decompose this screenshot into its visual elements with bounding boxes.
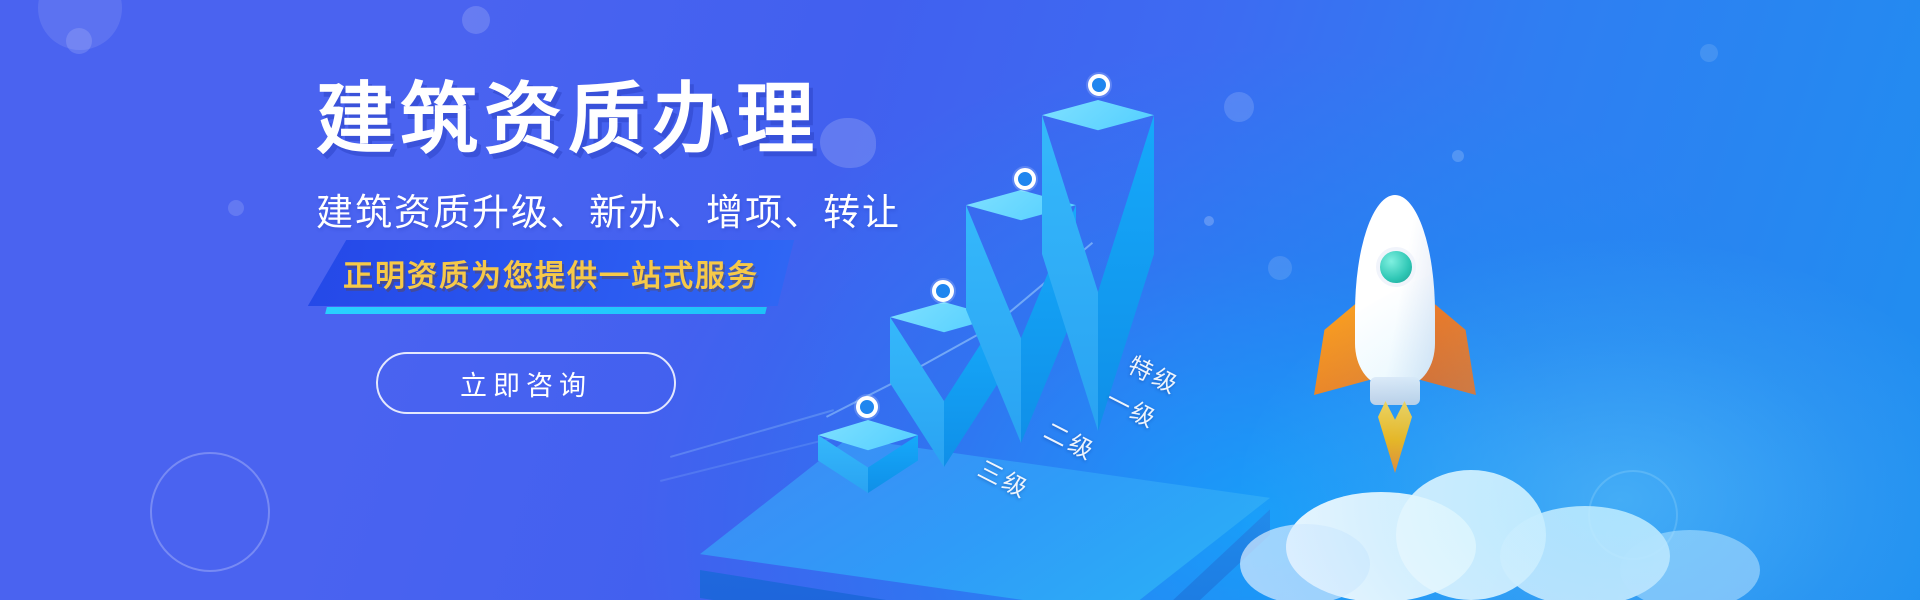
data-node-icon-3 (1014, 168, 1036, 190)
chart-bar-4-top (1042, 100, 1154, 154)
growth-chart: 三级 二级 一级 特级 (640, 40, 1340, 600)
chart-bar-4-left (1042, 115, 1098, 431)
promo-banner: 建筑资质办理 建筑资质升级、新办、增项、转让 正明资质为您提供一站式服务 立即咨… (0, 0, 1920, 600)
trend-line-4 (670, 409, 834, 458)
data-node-icon-2 (932, 280, 954, 302)
decor-blob-4 (462, 6, 490, 34)
decor-blob-3 (228, 200, 244, 216)
decor-blob-9 (1700, 44, 1718, 62)
chart-bar-2-left (890, 317, 944, 467)
data-node-icon-4 (1088, 74, 1110, 96)
decor-blob-10 (1452, 150, 1464, 162)
decor-ring-1 (150, 452, 270, 572)
data-node-icon-1 (856, 396, 878, 418)
consult-now-button[interactable]: 立即咨询 (376, 352, 676, 414)
chart-bar-3-left (966, 205, 1021, 443)
rocket-window-icon (1376, 247, 1416, 287)
decor-blob-2 (66, 28, 92, 54)
